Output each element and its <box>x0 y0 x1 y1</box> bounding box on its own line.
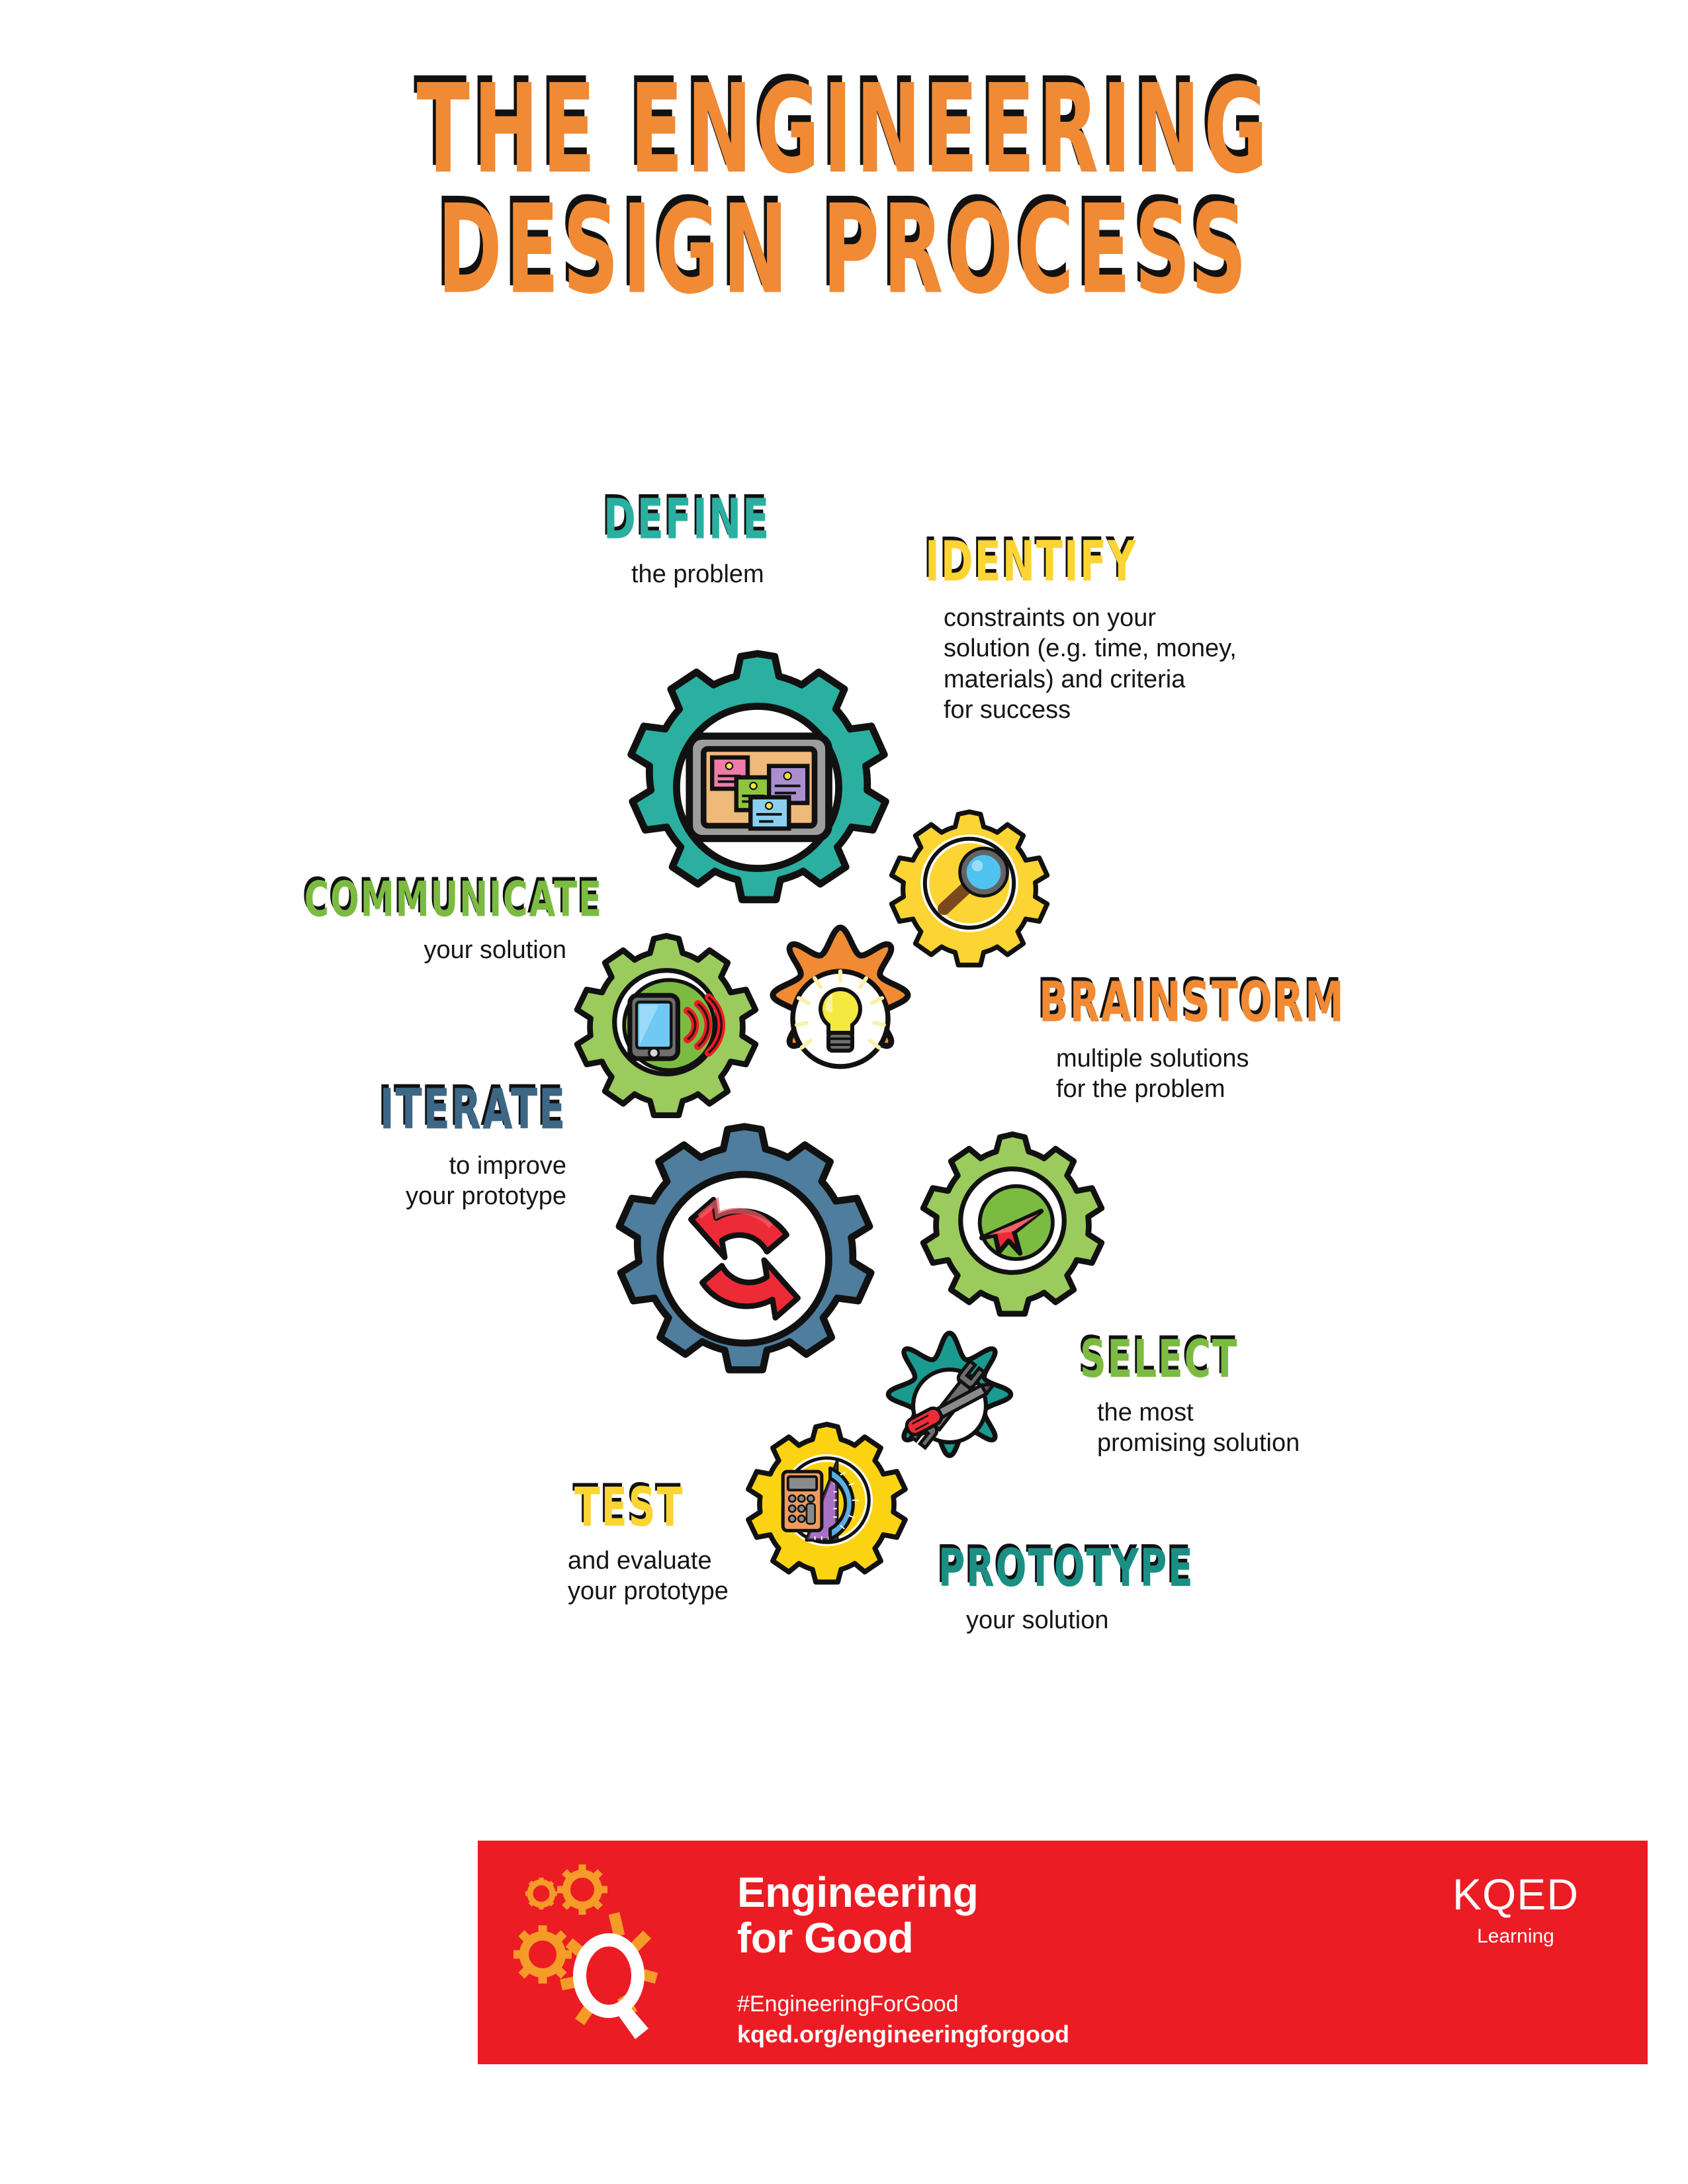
footer-banner: Engineering for Good #EngineeringForGood… <box>478 1841 1648 2064</box>
step-brainstorm-heading: BRAINSTORM <box>1039 969 1345 1035</box>
page-title: THE ENGINEERING DESIGN PROCESS <box>0 73 1688 273</box>
step-iterate: ITERATE to improve your prototype <box>294 1085 566 1212</box>
step-test-subtext: and evaluate your prototype <box>568 1546 729 1607</box>
step-define-heading: DEFINE <box>603 486 770 552</box>
title-line-2: DESIGN PROCESS <box>67 193 1621 308</box>
step-communicate-subtext: your solution <box>289 935 566 965</box>
step-identify-subtext: constraints on your solution (e.g. time,… <box>944 603 1237 725</box>
gear-brainstorm <box>741 920 940 1118</box>
step-iterate-heading: ITERATE <box>380 1076 566 1142</box>
gear-test <box>742 1416 911 1585</box>
step-identify: IDENTIFY constraints on your solution (e… <box>925 537 1237 725</box>
gear-select <box>916 1125 1108 1317</box>
program-name: Engineering for Good <box>737 1870 978 1961</box>
gear-define <box>612 645 903 930</box>
step-define-subtext: the problem <box>631 559 779 590</box>
kqed-logo: KQED Learning <box>1452 1872 1579 1948</box>
tablet-sticky-notes-icon <box>631 654 886 900</box>
step-brainstorm: BRAINSTORM multiple solutions for the pr… <box>1039 978 1361 1105</box>
step-brainstorm-subtext: multiple solutions for the problem <box>1056 1043 1361 1105</box>
cursor-arrow-icon <box>923 1135 1102 1314</box>
step-test: TEST and evaluate your prototype <box>574 1485 729 1607</box>
step-prototype: PROTOTYPE your solution <box>938 1546 1208 1636</box>
gears-magnifier-logo <box>496 1855 695 2051</box>
kqed-wordmark: KQED <box>1452 1872 1579 1916</box>
step-define: DEFINE the problem <box>603 495 779 590</box>
step-prototype-heading: PROTOTYPE <box>938 1538 1194 1598</box>
step-iterate-subtext: to improve your prototype <box>294 1151 566 1212</box>
step-communicate: COMMUNICATE your solution <box>289 879 566 965</box>
step-communicate-heading: COMMUNICATE <box>304 871 603 928</box>
gear-communicate <box>570 926 762 1118</box>
smartphone-signal-icon <box>577 936 756 1115</box>
step-select-heading: SELECT <box>1080 1329 1289 1389</box>
lightbulb-icon <box>773 928 908 1067</box>
step-select-subtext: the most promising solution <box>1097 1397 1300 1459</box>
gear-iterate <box>602 1118 887 1399</box>
title-line-1: THE ENGINEERING <box>67 73 1621 188</box>
calculator-ruler-icon <box>748 1424 905 1582</box>
step-prototype-subtext: your solution <box>966 1605 1208 1636</box>
website-url[interactable]: kqed.org/engineeringforgood <box>737 2021 1069 2048</box>
kqed-sublabel: Learning <box>1452 1925 1579 1948</box>
step-test-heading: TEST <box>574 1477 721 1540</box>
hashtag: #EngineeringForGood <box>737 1991 959 2017</box>
recycle-arrows-icon <box>619 1127 871 1370</box>
step-identify-heading: IDENTIFY <box>925 529 1221 594</box>
step-select: SELECT the most promising solution <box>1080 1336 1300 1459</box>
